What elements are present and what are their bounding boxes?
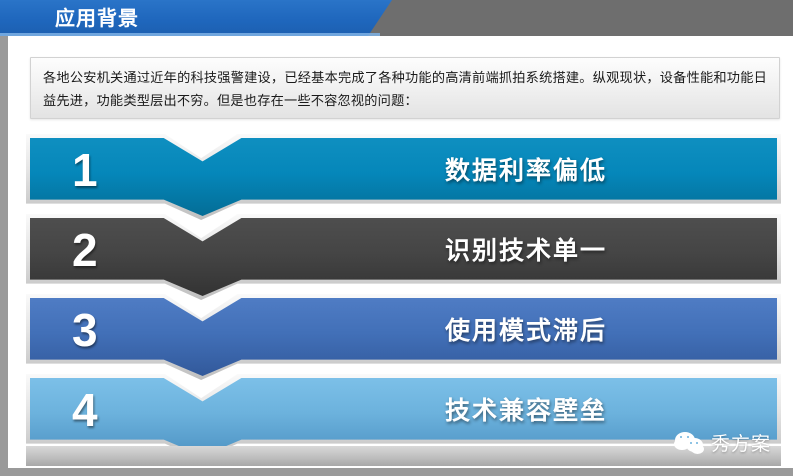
header-bar: 应用背景: [0, 0, 793, 36]
chevron-row-2-label: 识别技术单一: [326, 224, 726, 278]
slide-frame: 各地公安机关通过近年的科技强警建设，已经基本完成了各种功能的高清前端抓拍系统搭建…: [0, 36, 793, 476]
chevron-row-3[interactable]: 3 使用模式滞后: [26, 294, 781, 380]
chevron-row-3-label: 使用模式滞后: [326, 304, 726, 358]
slide-content-area: 各地公安机关通过近年的科技强警建设，已经基本完成了各种功能的高清前端抓拍系统搭建…: [16, 36, 793, 468]
intro-textbox: 各地公安机关通过近年的科技强警建设，已经基本完成了各种功能的高清前端抓拍系统搭建…: [30, 57, 780, 119]
slide-canvas: 应用背景 各地公安机关通过近年的科技强警建设，已经基本完成了各种功能的高清前端抓…: [0, 0, 793, 476]
intro-paragraph: 各地公安机关通过近年的科技强警建设，已经基本完成了各种功能的高清前端抓拍系统搭建…: [43, 66, 767, 112]
chevron-row-1-number: 1: [72, 139, 98, 201]
chevron-row-4-label: 技术兼容壁垒: [326, 384, 726, 438]
page-title: 应用背景: [55, 2, 139, 36]
chevron-row-1-label: 数据利率偏低: [326, 144, 726, 198]
chevron-row-3-number: 3: [72, 299, 98, 361]
bottom-strip: [26, 446, 781, 466]
chevron-row-2[interactable]: 2 识别技术单一: [26, 214, 781, 300]
chevron-row-1[interactable]: 1 数据利率偏低: [26, 134, 781, 220]
chevron-row-2-number: 2: [72, 219, 98, 281]
chevron-row-4-number: 4: [72, 379, 98, 441]
